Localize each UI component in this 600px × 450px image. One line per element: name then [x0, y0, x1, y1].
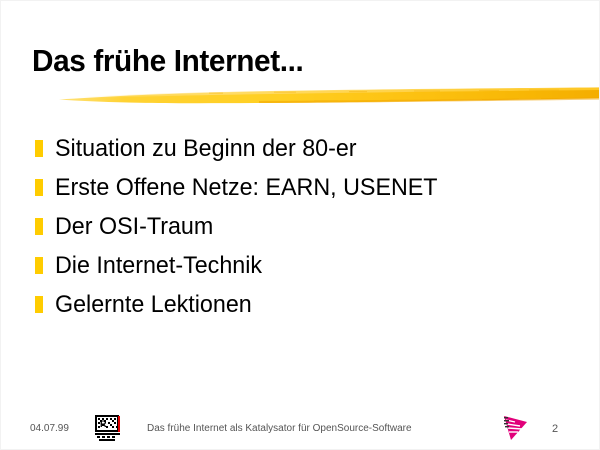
square-bullet-icon	[35, 218, 43, 235]
logo-svg	[500, 415, 530, 443]
page-title: Das frühe Internet...	[32, 43, 303, 79]
list-item-label: Die Internet-Technik	[55, 254, 262, 278]
brush-highlight	[77, 87, 600, 98]
footer-date: 04.07.99	[30, 423, 69, 434]
brush-body	[59, 88, 600, 104]
bullet-list: Situation zu Beginn der 80-er Erste Offe…	[35, 129, 575, 324]
list-item-label: Der OSI-Traum	[55, 215, 213, 239]
list-item[interactable]: Gelernte Lektionen	[35, 285, 575, 324]
computer-icon-svg: R	[95, 415, 122, 441]
square-bullet-icon	[35, 257, 43, 274]
brush-speckles	[209, 89, 559, 101]
yellow-brush-stroke-icon	[59, 81, 600, 109]
computer-monitor-icon: R	[95, 415, 122, 441]
list-item-label: Gelernte Lektionen	[55, 293, 252, 317]
brush-stroke-svg	[59, 81, 600, 109]
page-number: 2	[552, 423, 558, 435]
brush-shadow	[259, 97, 600, 103]
svg-text:R: R	[100, 419, 107, 429]
list-item[interactable]: Situation zu Beginn der 80-er	[35, 129, 575, 168]
square-bullet-icon	[35, 296, 43, 313]
list-item-label: Erste Offene Netze: EARN, USENET	[55, 176, 438, 200]
presentation-slide: Das frühe Internet...	[0, 0, 600, 450]
square-bullet-icon	[35, 179, 43, 196]
list-item[interactable]: Die Internet-Technik	[35, 246, 575, 285]
list-item-label: Situation zu Beginn der 80-er	[55, 137, 357, 161]
square-bullet-icon	[35, 140, 43, 157]
list-item[interactable]: Erste Offene Netze: EARN, USENET	[35, 168, 575, 207]
list-item[interactable]: Der OSI-Traum	[35, 207, 575, 246]
footer-text: Das frühe Internet als Katalysator für O…	[147, 423, 412, 434]
pink-flag-logo-icon	[500, 415, 530, 443]
slide-footer: 04.07.99	[1, 415, 600, 445]
